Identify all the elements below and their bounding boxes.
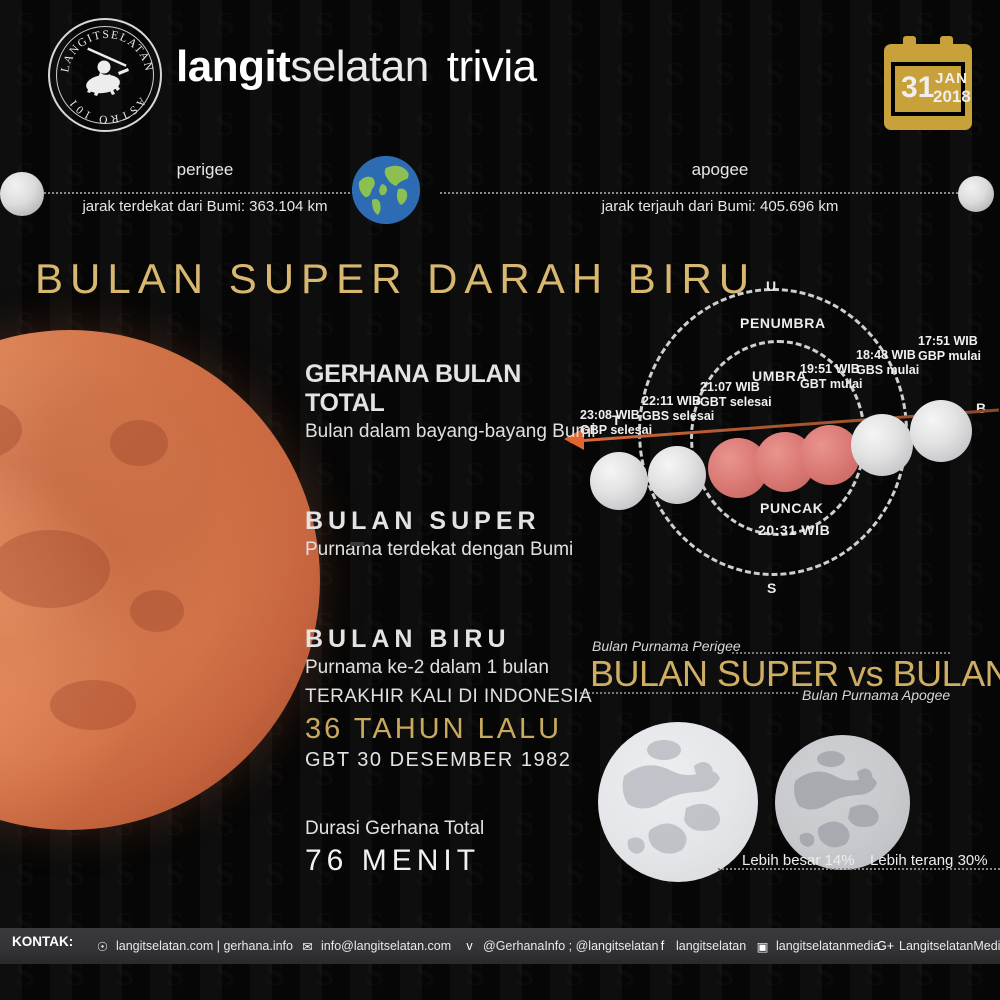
orbit-line-right	[440, 192, 970, 194]
twitter-icon: ᴠ	[462, 939, 477, 953]
contact-bar: ☉langitselatan.com | gerhana.info✉info@l…	[0, 928, 1000, 964]
contact-item-4[interactable]: ▣langitselatanmedia	[755, 939, 880, 954]
duration-value: 76 MENIT	[305, 844, 605, 878]
divider-dash	[350, 542, 364, 546]
orbit-distance-band	[0, 150, 1000, 240]
last-occurrence-block: TERAKHIR KALI DI INDONESIA 36 TAHUN LALU…	[305, 686, 605, 772]
phase-time-3: 19:51 WIB	[800, 362, 863, 377]
phase-moon-1	[648, 446, 706, 504]
googleplus-icon: G+	[878, 939, 893, 953]
calendar-body: 31 JAN 2018	[884, 44, 972, 130]
phase-event-5: GBP mulai	[918, 349, 981, 364]
perigee-fullmoon-label: Bulan Purnama Perigee	[592, 638, 741, 654]
brand-trivia: trivia	[447, 42, 537, 91]
supermoon-icon	[598, 722, 758, 882]
page-title: BULAN SUPER DARAH BIRU	[35, 255, 756, 303]
feature-list: GERHANA BULAN TOTAL Bulan dalam bayang-b…	[305, 360, 605, 679]
calendar-inner: 31 JAN 2018	[891, 62, 965, 116]
penumbra-label: PENUMBRA	[740, 315, 826, 331]
contact-text-2: @GerhanaInfo ; @langitselatan	[483, 939, 658, 953]
phase-moon-5	[851, 414, 913, 476]
phase-label-5: 17:51 WIB GBP mulai	[918, 334, 981, 364]
last-occurrence-label: TERAKHIR KALI DI INDONESIA	[305, 686, 605, 708]
contact-item-2[interactable]: ᴠ@GerhanaInfo ; @langitselatan	[462, 939, 658, 953]
langitselatan-logo-icon: LANGITSELATAN ASTRO 101	[48, 18, 162, 132]
header: LANGITSELATAN ASTRO 101 langitselatantri…	[0, 0, 1000, 150]
peak-label: PUNCAK	[760, 500, 824, 516]
phase-time-5: 17:51 WIB	[918, 334, 981, 349]
contact-label: KONTAK:	[12, 934, 73, 949]
size-comparison-label: Lebih besar 14%	[742, 852, 855, 869]
brand-bold: langit	[176, 42, 290, 91]
instagram-icon: ▣	[755, 939, 770, 954]
direction-north: U	[766, 278, 776, 294]
phase-label-2: 21:07 WIB GBT selesai	[700, 380, 772, 410]
phase-moon-4	[800, 425, 860, 485]
phase-label-3: 19:51 WIB GBT mulai	[800, 362, 863, 392]
phase-event-3: GBT mulai	[800, 377, 863, 392]
phase-event-2: GBT selesai	[700, 395, 772, 410]
phase-time-4: 18:48 WIB	[856, 348, 919, 363]
svg-text:ASTRO 101: ASTRO 101	[66, 95, 148, 125]
phase-event-4: GBS mulai	[856, 363, 919, 378]
facebook-icon: f	[655, 939, 670, 953]
last-occurrence-date: GBT 30 DESEMBER 1982	[305, 749, 605, 772]
brightness-comparison-label: Lebih terang 30%	[870, 852, 988, 869]
phase-moon-6	[910, 400, 972, 462]
contact-item-0[interactable]: ☉langitselatan.com | gerhana.info	[95, 939, 293, 954]
brand-title: langitselatantrivia	[176, 42, 537, 92]
calendar-year: 2018	[933, 88, 971, 105]
last-occurrence-value: 36 TAHUN LALU	[305, 713, 605, 746]
duration-label: Durasi Gerhana Total	[305, 818, 605, 840]
gbt-subtitle: Bulan dalam bayang-bayang Bumi	[305, 421, 605, 443]
contact-text-5: LangitselatanMedia	[899, 939, 1000, 953]
earth-globe-icon	[352, 156, 420, 224]
minimoon-icon	[775, 735, 910, 870]
bulan-super-heading: BULAN SUPER	[305, 507, 605, 536]
super-vs-mini-block: Bulan Purnama Perigee BULAN SUPER vs BUL…	[570, 630, 1000, 900]
direction-south: S	[767, 580, 776, 596]
eclipse-diagram: U S T B PENUMBRA UMBRA PUNCAK 20:31 WIB …	[560, 270, 1000, 610]
calendar-day: 31	[901, 72, 934, 104]
duration-block: Durasi Gerhana Total 76 MENIT	[305, 818, 605, 878]
brand-light: selatan	[290, 42, 428, 91]
bulan-biru-heading: BULAN BIRU	[305, 625, 605, 654]
contact-item-1[interactable]: ✉info@langitselatan.com	[300, 939, 451, 954]
vs-bottom-dashline	[580, 692, 798, 694]
phase-event-1: GBS selesai	[642, 409, 714, 424]
peak-time: 20:31 WIB	[758, 522, 830, 538]
contact-text-3: langitselatan	[676, 939, 746, 953]
direction-east: B	[976, 400, 986, 416]
apogee-moon-icon	[958, 176, 994, 212]
contact-text-4: langitselatanmedia	[776, 939, 880, 953]
bulan-biru-subtitle: Purnama ke-2 dalam 1 bulan	[305, 657, 605, 679]
calendar-month: JAN	[935, 71, 968, 86]
contact-item-5[interactable]: G+LangitselatanMedia	[878, 939, 1000, 953]
contact-text-0: langitselatan.com | gerhana.info	[116, 939, 293, 953]
phase-time-2: 21:07 WIB	[700, 380, 772, 395]
email-icon: ✉	[300, 939, 315, 954]
calendar-plate: 31 JAN 2018	[895, 66, 961, 112]
orbit-line-left	[40, 192, 370, 194]
contact-text-1: info@langitselatan.com	[321, 939, 451, 953]
calendar-icon: 31 JAN 2018	[884, 34, 972, 130]
gbt-heading: GERHANA BULAN TOTAL	[305, 360, 605, 418]
contact-item-3[interactable]: flangitselatan	[655, 939, 746, 953]
apogee-fullmoon-label: Bulan Purnama Apogee	[802, 687, 950, 703]
phase-label-4: 18:48 WIB GBS mulai	[856, 348, 919, 378]
rss-icon: ☉	[95, 939, 110, 954]
perigee-moon-icon	[0, 172, 44, 216]
